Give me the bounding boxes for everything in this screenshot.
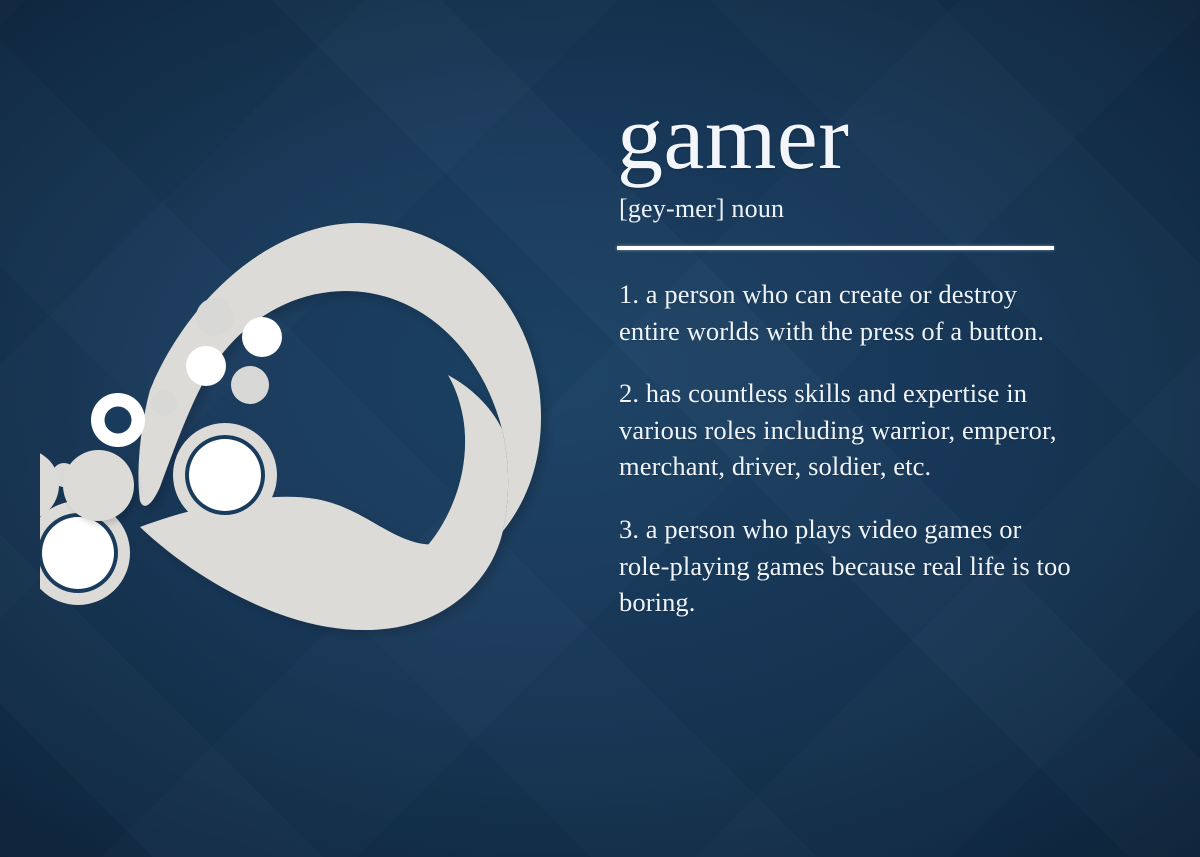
definition-text-column: gamer [gey-mer] noun 1. a person who can… [617, 92, 1077, 621]
face-button-top-left [196, 298, 234, 336]
detached-circle-outer [63, 450, 134, 521]
controller-body-group [138, 223, 541, 630]
definition-item-2: 2. has countless skills and expertise in… [619, 375, 1077, 485]
pronunciation-and-part-of-speech: [gey-mer] noun [619, 194, 1077, 224]
definition-item-1: 1. a person who can create or destroy en… [619, 276, 1077, 349]
face-button-top-right [242, 317, 282, 357]
definition-item-3: 3. a person who plays video games or rol… [619, 511, 1077, 621]
face-button-mid-left [186, 346, 226, 386]
small-dot-center [151, 390, 177, 416]
poster-canvas: gamer [gey-mer] noun 1. a person who can… [0, 0, 1200, 857]
face-button-mid-right [231, 366, 269, 404]
thumbstick-right [173, 423, 277, 527]
ring-control [91, 393, 145, 447]
divider-rule [617, 246, 1054, 250]
game-controller-illustration [40, 205, 570, 655]
page-title: gamer [617, 92, 1077, 182]
